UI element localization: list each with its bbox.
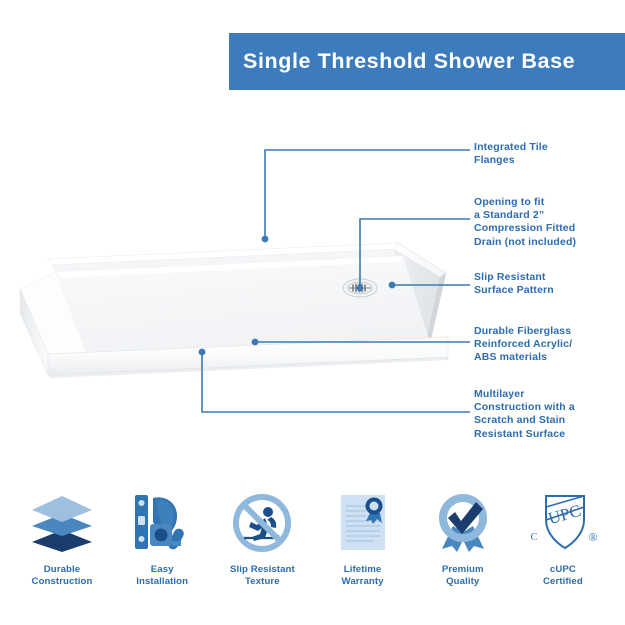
callout-slip-resistant-surface: Slip Resistant Surface Pattern [474,271,554,297]
infographic-page: Single Threshold Shower Base [0,0,625,625]
certificate-document-icon [328,488,398,558]
leader-dot-drain-opening [357,285,364,292]
callout-integrated-tile-flanges: Integrated Tile Flanges [474,141,548,167]
leader-multilayer [202,352,470,412]
feature-premium-quality: Premium Quality [415,488,511,588]
feature-label-slip-resistant-texture: Slip Resistant Texture [230,564,295,588]
cupc-mark-right: ® [588,530,597,544]
leader-integrated-tile-flanges [265,150,470,239]
upc-shield-icon: UPC C ® [528,488,598,558]
callout-durable-fiberglass: Durable Fiberglass Reinforced Acrylic/ A… [474,325,572,365]
feature-label-easy-installation: Easy Installation [136,564,188,588]
leader-drain-opening [360,219,470,288]
feature-label-cupc-certified: cUPC Certified [543,564,583,588]
no-slip-icon [227,488,297,558]
check-rosette-icon [428,488,498,558]
feature-strip: Durable Construction [0,488,625,608]
leader-dot-integrated-tile-flanges [262,236,269,243]
feature-label-durable-construction: Durable Construction [32,564,93,588]
cupc-mark-left: C [531,532,538,543]
feature-lifetime-warranty: Lifetime Warranty [315,488,411,588]
feature-cupc-certified: UPC C ® cUPC Certified [515,488,611,588]
feature-label-premium-quality: Premium Quality [442,564,484,588]
leader-dot-slip-resistant [389,282,396,289]
callout-drain-opening: Opening to fit a Standard 2” Compression… [474,196,576,249]
stacked-layers-icon [27,488,97,558]
callout-multilayer-construction: Multilayer Construction with a Scratch a… [474,388,575,441]
feature-durable-construction: Durable Construction [14,488,110,588]
feature-easy-installation: Easy Installation [114,488,210,588]
leader-dot-durable-fiberglass [252,339,259,346]
feature-slip-resistant-texture: Slip Resistant Texture [214,488,310,588]
level-and-trowel-icon [127,488,197,558]
feature-label-lifetime-warranty: Lifetime Warranty [342,564,384,588]
leader-dot-multilayer [199,349,206,356]
